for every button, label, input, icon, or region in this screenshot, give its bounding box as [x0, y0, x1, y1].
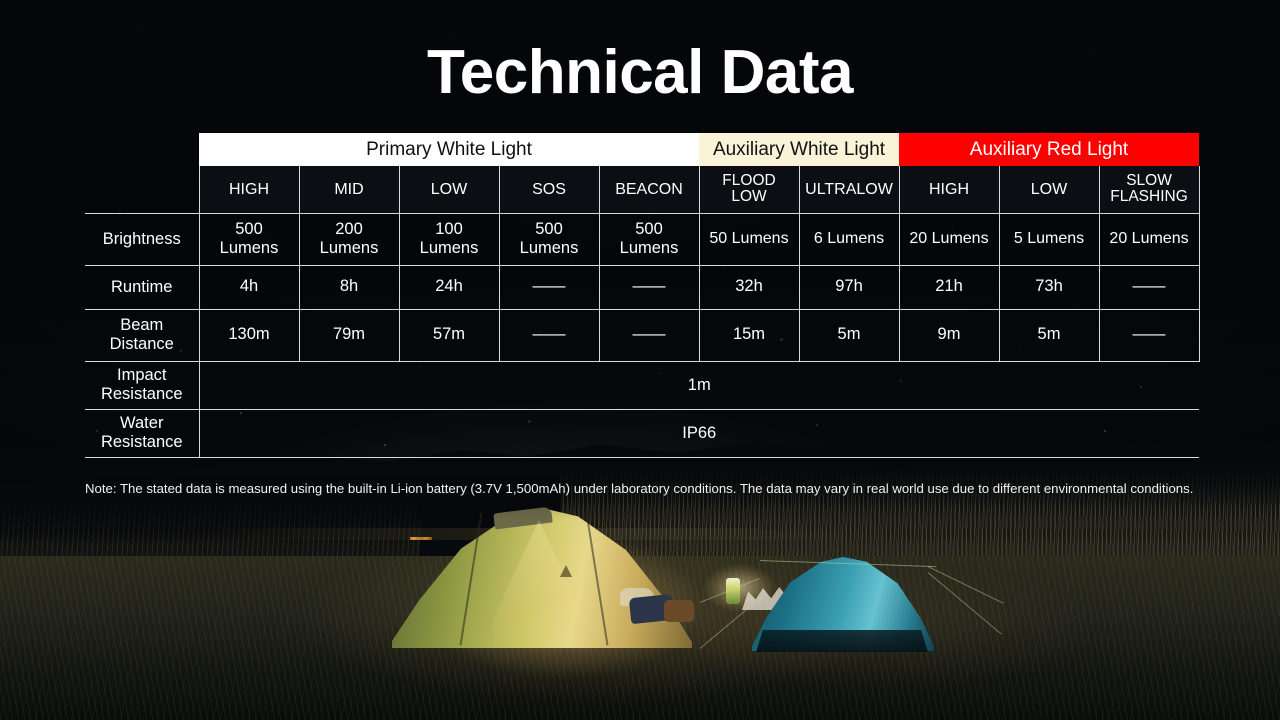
data-cell: 9m	[899, 309, 999, 361]
table-row-merged: ImpactResistance1m	[85, 361, 1199, 409]
data-cell: 5m	[799, 309, 899, 361]
technical-data-table: Primary White LightAuxiliary White Light…	[85, 133, 1200, 458]
merged-value-cell: 1m	[199, 361, 1199, 409]
mode-header-row: HIGHMIDLOWSOSBEACONFLOODLOWULTRALOWHIGHL…	[85, 166, 1199, 213]
data-cell: 24h	[399, 265, 499, 309]
data-cell: ——	[599, 265, 699, 309]
data-cell: 73h	[999, 265, 1099, 309]
data-cell: 97h	[799, 265, 899, 309]
data-cell: 4h	[199, 265, 299, 309]
data-cell: ——	[1099, 309, 1199, 361]
merged-value-cell: IP66	[199, 409, 1199, 457]
data-cell: 130m	[199, 309, 299, 361]
data-cell: 20 Lumens	[899, 213, 999, 265]
table-row-merged: WaterResistanceIP66	[85, 409, 1199, 457]
mode-header-cell: FLOODLOW	[699, 166, 799, 213]
mode-header-cell: SLOWFLASHING	[1099, 166, 1199, 213]
mode-header-cell: HIGH	[899, 166, 999, 213]
data-cell: 200Lumens	[299, 213, 399, 265]
mode-header-cell: LOW	[999, 166, 1099, 213]
mode-header-cell: SOS	[499, 166, 599, 213]
row-label: ImpactResistance	[85, 361, 199, 409]
data-cell: 50 Lumens	[699, 213, 799, 265]
group-header-row: Primary White LightAuxiliary White Light…	[85, 133, 1199, 166]
footnote: Note: The stated data is measured using …	[85, 480, 1197, 498]
data-cell: 20 Lumens	[1099, 213, 1199, 265]
mode-header-cell: BEACON	[599, 166, 699, 213]
table-row: Runtime4h8h24h————32h97h21h73h——	[85, 265, 1199, 309]
row-label: BeamDistance	[85, 309, 199, 361]
data-cell: 500Lumens	[199, 213, 299, 265]
group-header-auxwhite: Auxiliary White Light	[699, 133, 899, 166]
page-title: Technical Data	[0, 42, 1280, 104]
data-cell: 32h	[699, 265, 799, 309]
data-cell: 6 Lumens	[799, 213, 899, 265]
table-row: Brightness500Lumens200Lumens100Lumens500…	[85, 213, 1199, 265]
slide-content: Technical Data Primary White LightAuxili…	[0, 0, 1280, 720]
group-header-primary: Primary White Light	[199, 133, 699, 166]
mode-header-cell: ULTRALOW	[799, 166, 899, 213]
mode-header-cell: HIGH	[199, 166, 299, 213]
data-cell: 57m	[399, 309, 499, 361]
data-cell: 15m	[699, 309, 799, 361]
data-cell: ——	[1099, 265, 1199, 309]
data-cell: ——	[499, 309, 599, 361]
data-cell: 500Lumens	[599, 213, 699, 265]
mode-header-cell: LOW	[399, 166, 499, 213]
data-cell: 5m	[999, 309, 1099, 361]
technical-data-slide: Technical Data Primary White LightAuxili…	[0, 0, 1280, 720]
row-label: WaterResistance	[85, 409, 199, 457]
group-header-spacer	[85, 133, 199, 166]
data-cell: 79m	[299, 309, 399, 361]
data-cell: 5 Lumens	[999, 213, 1099, 265]
data-cell: 8h	[299, 265, 399, 309]
data-cell: 21h	[899, 265, 999, 309]
data-cell: ——	[599, 309, 699, 361]
row-label: Runtime	[85, 265, 199, 309]
mode-header-cell: MID	[299, 166, 399, 213]
mode-header-spacer	[85, 166, 199, 213]
group-header-auxred: Auxiliary Red Light	[899, 133, 1199, 166]
row-label: Brightness	[85, 213, 199, 265]
data-cell: 500Lumens	[499, 213, 599, 265]
table-row: BeamDistance130m79m57m————15m5m9m5m——	[85, 309, 1199, 361]
data-cell: ——	[499, 265, 599, 309]
data-cell: 100Lumens	[399, 213, 499, 265]
